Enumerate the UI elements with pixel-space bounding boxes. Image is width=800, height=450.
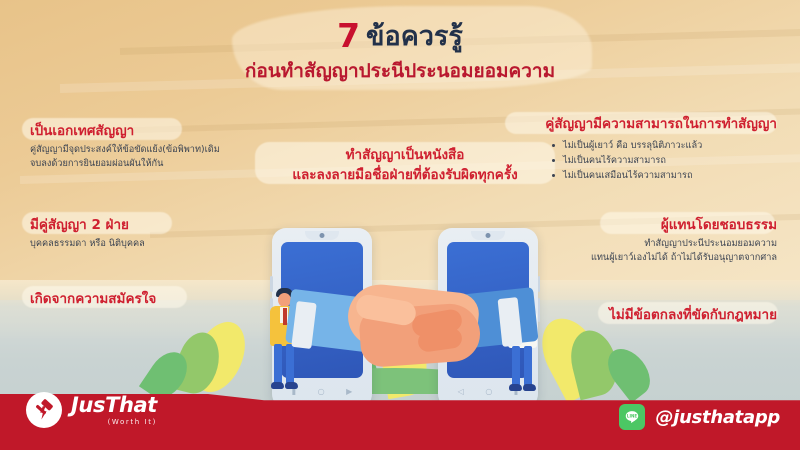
phone-camera-icon <box>320 233 325 238</box>
social-handle-text[interactable]: @justhatapp <box>656 407 780 428</box>
phone-side-button <box>538 276 541 292</box>
title-text: ข้อควรรู้ <box>366 21 463 52</box>
infographic-canvas: ▮ ○ ▶ ◁ ○ ▮ <box>0 0 800 450</box>
block-body: คู่สัญญามีจุดประสงค์ให้ข้อขัดแย้ง(ข้อพิพ… <box>30 143 265 171</box>
info-block-right-3: ไม่มีข้อตกลงที่ขัดกับกฎหมาย <box>560 306 777 324</box>
page-title: 7ข้อควรรู้ <box>0 14 800 57</box>
footer: JusThat (Worth It) LINE @justhatapp <box>0 380 800 450</box>
logo-text: JusThat (Worth It) <box>71 395 157 426</box>
info-block-left-3: เกิดจากความสมัครใจ <box>30 290 265 308</box>
title-number: 7 <box>337 16 359 55</box>
svg-text:LINE: LINE <box>626 413 636 418</box>
info-block-left-1: เป็นเอกเทศสัญญา คู่สัญญามีจุดประสงค์ให้ข… <box>30 122 265 171</box>
phone-camera-icon <box>486 233 491 238</box>
logo-tagline: (Worth It) <box>71 418 157 426</box>
block-heading: ผู้แทนโดยชอบธรรม <box>530 216 777 234</box>
block-bullet-list: ไม่เป็นผู้เยาว์ คือ บรรลุนิติภาวะแล้ว ไม… <box>551 139 777 184</box>
line-app-icon[interactable]: LINE <box>619 404 645 430</box>
brand-logo[interactable]: JusThat (Worth It) <box>26 392 157 428</box>
info-block-right-1: คู่สัญญามีความสามารถในการทำสัญญา ไม่เป็น… <box>505 115 777 184</box>
logo-name: JusThat <box>71 395 157 416</box>
block-heading: เกิดจากความสมัครใจ <box>30 290 265 308</box>
info-block-right-2: ผู้แทนโดยชอบธรรม ทำสัญญาประนีประนอมยอมคว… <box>530 216 777 265</box>
block-heading: ไม่มีข้อตกลงที่ขัดกับกฎหมาย <box>560 306 777 324</box>
social-handle-group[interactable]: LINE @justhatapp <box>619 404 780 430</box>
block-heading: คู่สัญญามีความสามารถในการทำสัญญา <box>505 115 777 133</box>
page-subtitle: ก่อนทำสัญญาประนีประนอมยอมความ <box>0 56 800 86</box>
leg <box>274 344 282 384</box>
list-item: ไม่เป็นคนไร้ความสามารถ <box>551 154 777 169</box>
block-body: บุคคลธรรมดา หรือ นิติบุคคล <box>30 237 265 251</box>
list-item: ไม่เป็นคนเสมือนไร้ความสามารถ <box>551 169 777 184</box>
block-body: ทำสัญญาประนีประนอมยอมความแทนผู้เยาว์เองไ… <box>530 237 777 265</box>
info-block-left-2: มีคู่สัญญา 2 ฝ่าย บุคคลธรรมดา หรือ นิติบ… <box>30 216 265 251</box>
gavel-icon <box>26 392 62 428</box>
list-item: ไม่เป็นผู้เยาว์ คือ บรรลุนิติภาวะแล้ว <box>551 139 777 154</box>
tie <box>283 308 287 325</box>
leg <box>286 344 294 384</box>
block-heading: มีคู่สัญญา 2 ฝ่าย <box>30 216 265 234</box>
block-heading: เป็นเอกเทศสัญญา <box>30 122 265 140</box>
